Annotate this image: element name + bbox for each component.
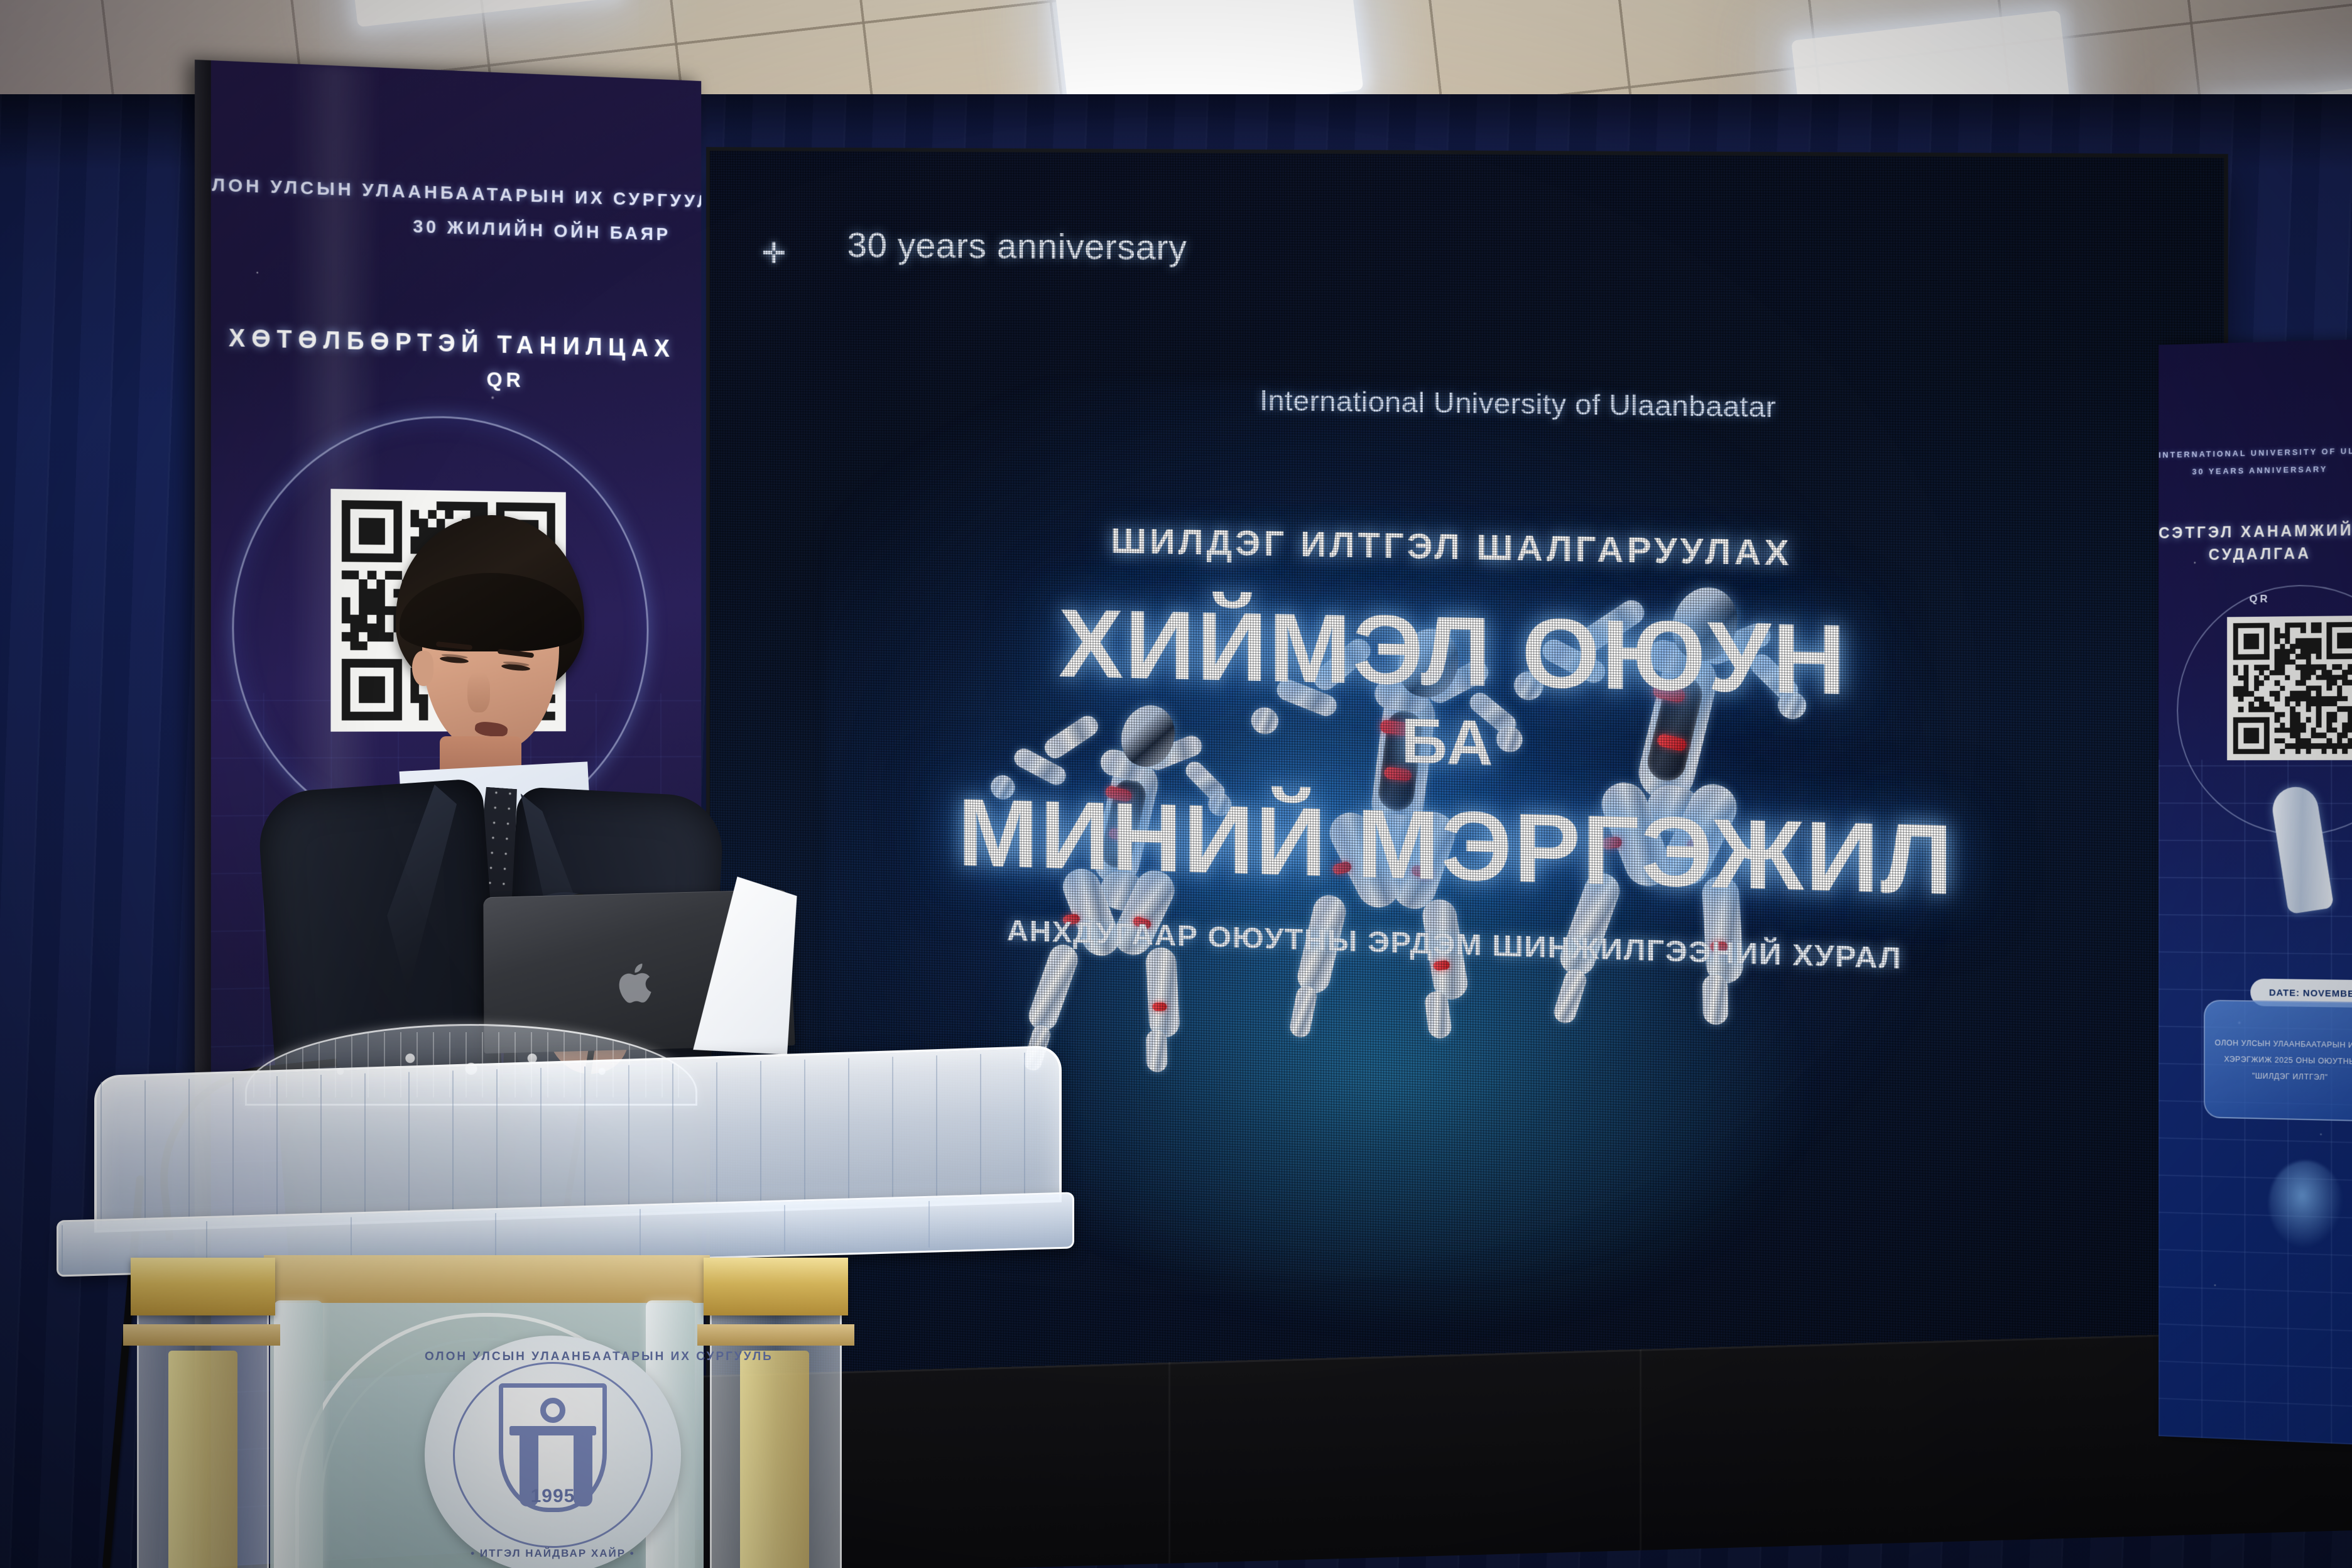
emblem-text-top: ОЛОН УЛСЫН УЛААНБААТАРЫН ИХ СУРГУУЛЬ [425,1350,681,1364]
podium-gold-rod-left [168,1351,237,1568]
podium-gold-cap-right [704,1258,848,1315]
robot-limb [1146,1030,1167,1072]
right-banner-qr-code[interactable] [2227,616,2352,760]
robot-limb [1288,984,1318,1040]
speaker-nose [467,672,490,712]
podium-gold-cap-left [131,1258,275,1315]
university-emblem: ОЛОН УЛСЫН УЛААНБААТАРЫН ИХ СУРГУУЛЬ 199… [425,1336,681,1568]
qr-code-modules [2233,622,2352,754]
apple-logo-icon [618,959,658,1006]
robot-limb [1145,947,1180,1037]
robot-limb [1152,1002,1167,1011]
university-name-label: International University of Ulaanbaatar [1260,384,1776,424]
podium-pillar-left [274,1300,323,1568]
info-card-line-3: "ШИЛДЭГ ИЛТГЭЛ" [2252,1072,2328,1082]
robot-limb [1702,974,1728,1024]
robot-limb [1551,966,1589,1026]
emblem-head-dot [540,1398,565,1423]
emblem-founding-year: 1995 [425,1486,681,1507]
right-banner-mn-line-1: СЭТГЭЛ ХАНАМЖИЙН [2159,521,2352,543]
anniversary-label: 30 years anniversary [847,224,1187,268]
robot-limb [1025,940,1082,1035]
podium-gold-band-right [697,1324,854,1346]
right-banner-info-card: ОЛОН УЛСЫН УЛААНБААТАРЫН ИХ СУРГУУЛЬ ХЭР… [2204,999,2352,1121]
right-rollup-banner: INTERNATIONAL UNIVERSITY OF ULAANBAATAR … [2159,339,2352,1445]
right-banner-mn-line-2: СУДАЛГАА [2159,544,2352,565]
info-card-line-2: ХЭРЭГЖИЖ 2025 ОНЫ ОЮУТНЫ [2224,1055,2352,1066]
presentation-photo-scene: ✛ 30 years anniversary International Uni… [0,0,2352,1568]
speaker-ear [412,651,433,686]
podium-gold-rod-right [740,1351,809,1568]
podium-gold-band-left [123,1324,280,1346]
plus-mark-icon: ✛ [762,239,787,268]
info-card-line-1: ОЛОН УЛСЫН УЛААНБААТАРЫН ИХ СУРГУУЛЬ [2215,1038,2352,1050]
emblem-text-bottom: • ИТГЭЛ НАЙДВАР ХАЙР • [425,1547,681,1560]
podium-gold-header-band [264,1255,710,1303]
right-banner-qr-label: QR [2159,592,2352,607]
